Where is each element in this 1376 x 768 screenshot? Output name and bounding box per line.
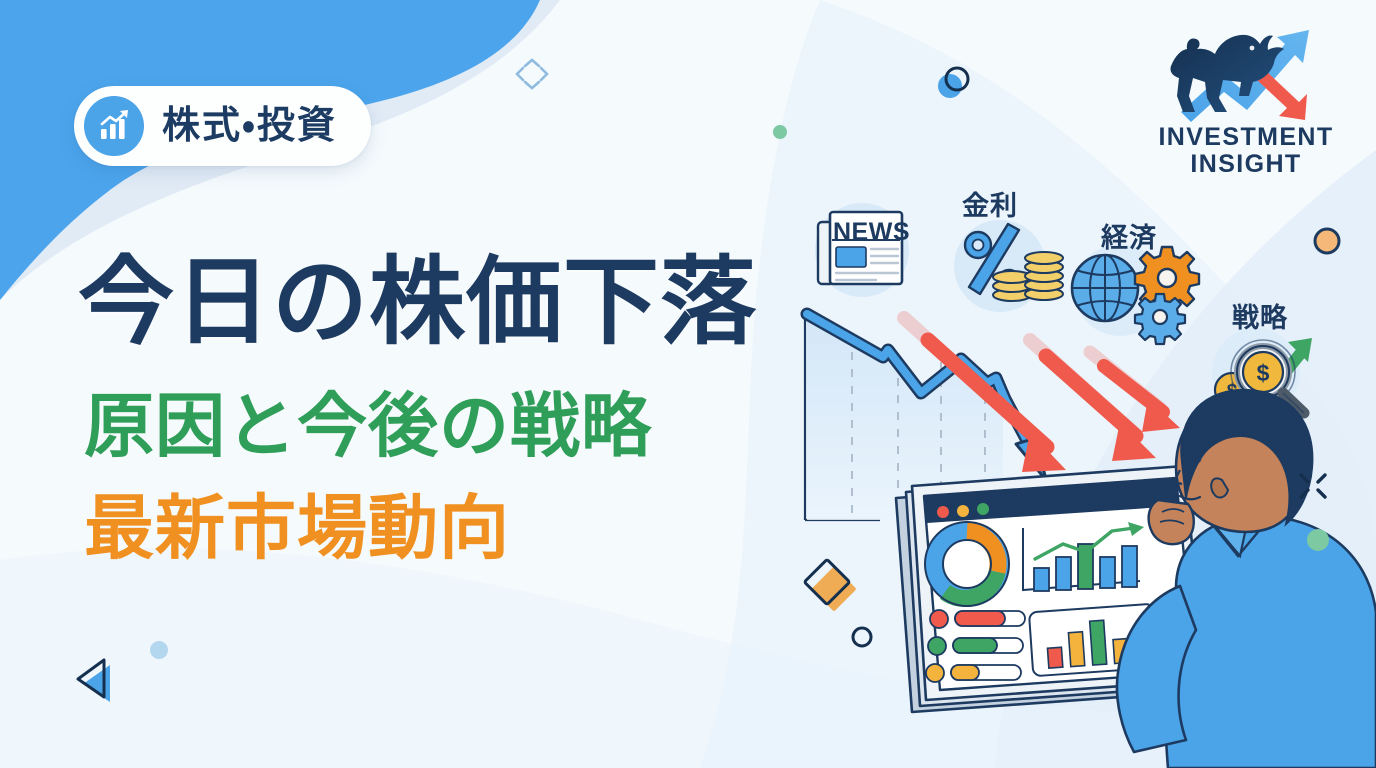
globe-with-gears-icon <box>1072 244 1199 344</box>
newspaper-headline-word: NEWS <box>833 218 910 247</box>
bull-with-arrows-logo <box>1153 16 1339 124</box>
light-blue-dot <box>150 641 168 659</box>
bar-chart-growth-icon <box>84 96 144 156</box>
outline-circle-small <box>853 628 871 646</box>
orange-diamond <box>804 559 856 611</box>
progress-bar-list <box>926 610 1025 682</box>
label-strategy: 戦略 <box>1232 296 1288 335</box>
subtitle-market-trends: 最新市場動向 <box>84 492 510 566</box>
percent-with-coins-icon <box>954 220 1063 312</box>
subtitle-strategy: 原因と今後の戦略 <box>84 390 652 464</box>
blue-triangle-marker <box>78 660 110 702</box>
label-economy: 経済 <box>1101 216 1157 255</box>
logo-wordmark-line1: INVESTMENT <box>1158 124 1333 150</box>
page-title: 今日の株価下落 <box>78 252 757 354</box>
category-badge-label: 株式・投資 <box>162 107 337 145</box>
blue-ring-dot <box>938 68 968 98</box>
category-badge[interactable]: 株式・投資 <box>74 86 371 166</box>
label-interest-rate: 金利 <box>962 184 1018 223</box>
svg-text:$: $ <box>1257 360 1270 386</box>
orange-ring-dot <box>1315 229 1339 253</box>
hero-banner: $ $ <box>0 0 1376 768</box>
brand-logo[interactable]: INVESTMENT INSIGHT <box>1144 16 1348 178</box>
green-dot-small <box>773 125 787 139</box>
gear-small <box>1135 294 1185 344</box>
dotted-diamond-marker <box>517 60 547 88</box>
logo-wordmark-line2: INSIGHT <box>1190 150 1301 178</box>
green-dot <box>1307 529 1329 551</box>
